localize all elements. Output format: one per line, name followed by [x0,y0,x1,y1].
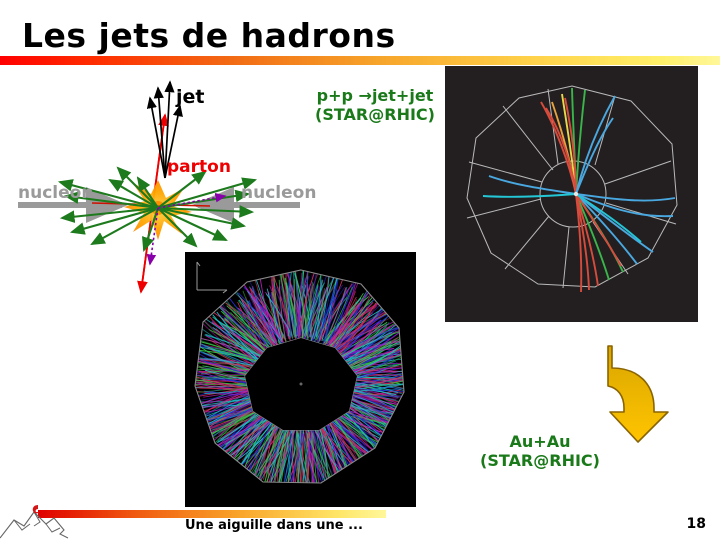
page-title: Les jets de hadrons [22,16,396,55]
nucleon-left-label: nucleon [18,183,93,203]
footer-caption: Une aiguille dans une ... [185,518,363,533]
logo-mark [33,505,39,513]
auau-vertex [300,383,303,386]
mountain-logo [0,500,86,540]
event-display-auau-canvas [185,252,416,507]
caption-auau-line2: (STAR@RHIC) [465,451,615,470]
footer-divider-rule [38,510,386,518]
caption-pp-jet-jet: p+p →jet+jet (STAR@RHIC) [300,86,450,124]
pp-vertex [574,192,578,196]
caption-auau: Au+Au (STAR@RHIC) [465,432,615,470]
caption-pp-line1: p+p →jet+jet [300,86,450,105]
event-display-auau [185,252,416,507]
jet-label: jet [176,86,204,108]
parton-label: parton [167,157,231,177]
page-number: 18 [687,516,706,532]
event-display-pp [445,66,698,322]
caption-auau-line1: Au+Au [465,432,615,451]
nucleon-right-label: nucleon [241,183,316,203]
caption-pp-line2: (STAR@RHIC) [300,105,450,124]
event-display-pp-canvas [445,66,698,322]
